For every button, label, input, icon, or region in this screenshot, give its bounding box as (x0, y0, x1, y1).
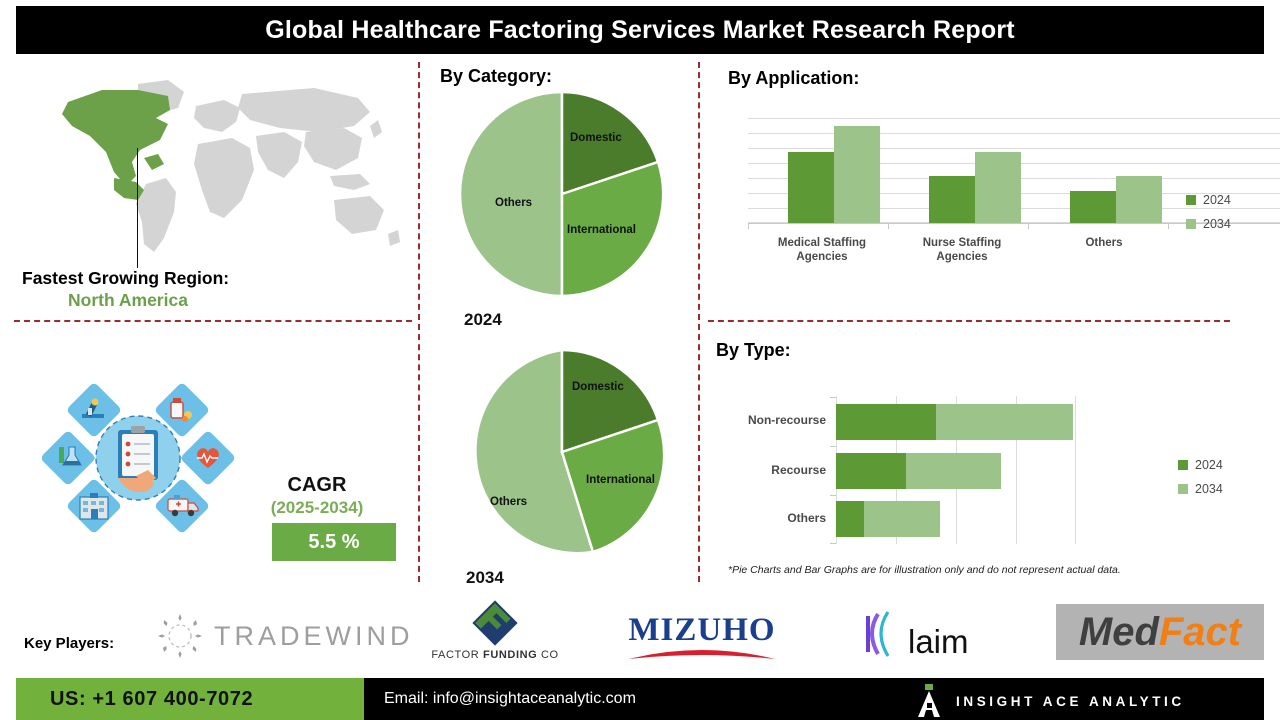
application-category-others: Others (1038, 236, 1170, 250)
application-tick-2 (1028, 223, 1029, 229)
footer-brand-text: INSIGHT ACE ANALYTIC (956, 694, 1185, 709)
mizuho-logo: MIZUHO (622, 612, 782, 663)
key-players-label: Key Players: (24, 635, 114, 652)
bar-2034-others-application (1116, 176, 1162, 223)
application-legend: 2024 2034 (1186, 193, 1231, 241)
factor-funding-word-funding: FUNDING (483, 649, 537, 661)
world-map (18, 66, 408, 266)
legend-item-2024: 2024 (1186, 193, 1231, 207)
factor-funding-diamond-icon (469, 600, 521, 646)
legend-label-2034: 2034 (1203, 217, 1231, 231)
hbar-2034-others-type (864, 501, 940, 537)
fastest-growing-region-value: North America (68, 290, 188, 311)
healthcare-icon-cluster (38, 358, 238, 558)
cagr-label: CAGR (226, 474, 408, 497)
type-tick-3 (830, 543, 836, 544)
mizuho-wordmark: MIZUHO (622, 612, 782, 649)
type-legend-label-2034: 2034 (1195, 482, 1223, 496)
tradewind-starburst-icon (152, 612, 208, 660)
cagr-years: (2025-2034) (226, 498, 408, 518)
footer-brand: INSIGHT ACE ANALYTIC (916, 684, 1185, 718)
pie-2034-slice-label-others: Others (490, 496, 527, 508)
footer-email: Email: info@insightaceanalytic.com (364, 690, 636, 708)
factor-funding-co-logo: FACTOR FUNDING CO (415, 600, 575, 661)
map-pointer-line (137, 148, 138, 268)
pie-2024-slice-label-domestic: Domestic (570, 132, 622, 144)
pie-2034-slice-label-international: International (586, 474, 655, 486)
hbar-2034-recourse (906, 453, 1001, 489)
legend-swatch-2024 (1186, 195, 1196, 205)
application-tick-1 (888, 223, 889, 229)
factor-funding-word-factor: FACTOR (431, 649, 479, 661)
pie-2034-slice-label-domestic: Domestic (572, 381, 624, 393)
pie-chart-2034 (452, 342, 672, 562)
tradewind-logo: TRADEWIND (152, 612, 414, 660)
horizontal-divider-left (14, 320, 412, 322)
type-legend-swatch-2024 (1178, 460, 1188, 470)
application-category-medical-staffing: Medical StaffingAgencies (756, 236, 888, 264)
cagr-value: 5.5 % (308, 531, 359, 554)
pie-2024-slice-label-others: Others (495, 197, 532, 209)
type-category-non-recourse: Non-recourse (700, 413, 826, 427)
insight-ace-a-logo-icon (916, 684, 942, 718)
type-category-others: Others (700, 511, 826, 525)
type-gridline-4 (1075, 396, 1076, 544)
type-bar-chart (836, 396, 1076, 544)
legend-swatch-2034 (1186, 219, 1196, 229)
pie-chart-2024 (452, 84, 672, 304)
pie-2034-year: 2034 (466, 568, 504, 588)
by-type-title: By Type: (716, 340, 791, 361)
page-title: Global Healthcare Factoring Services Mar… (265, 16, 1015, 45)
type-legend-item-2024: 2024 (1178, 458, 1223, 472)
factor-funding-word-co: CO (541, 649, 559, 661)
legend-item-2034: 2034 (1186, 217, 1231, 231)
hbar-2024-non-recourse (836, 404, 936, 440)
type-legend-item-2034: 2034 (1178, 482, 1223, 496)
bar-2024-others-application (1070, 191, 1116, 223)
pie-2024-slice-label-international: International (567, 224, 636, 236)
hbar-2024-others-type (836, 501, 864, 537)
footer-phone-block: US: +1 607 400-7072 (16, 678, 364, 720)
cagr-value-box: 5.5 % (272, 523, 396, 561)
pie-2024-year: 2024 (464, 310, 502, 330)
type-tick-1 (830, 446, 836, 447)
infographic-canvas: Global Healthcare Factoring Services Mar… (0, 0, 1280, 720)
type-tick-0 (830, 397, 836, 398)
bar-2034-nurse-staffing (975, 152, 1021, 223)
fastest-growing-region-label: Fastest Growing Region: (22, 268, 229, 289)
type-category-recourse: Recourse (700, 463, 826, 477)
klaim-logo: laim (862, 608, 969, 658)
legend-label-2024: 2024 (1203, 193, 1231, 207)
vertical-divider-right (698, 62, 700, 582)
type-legend-label-2024: 2024 (1195, 458, 1223, 472)
footer-phone: US: +1 607 400-7072 (16, 688, 253, 711)
horizontal-divider-right (708, 320, 1230, 322)
bar-2024-nurse-staffing (929, 176, 975, 223)
bar-2024-medical-staffing (788, 152, 834, 223)
klaim-bracket-icon (862, 608, 910, 658)
hbar-2034-non-recourse (936, 404, 1073, 440)
vertical-divider-left (418, 62, 420, 582)
application-tick-3 (1168, 223, 1169, 229)
medfact-word-med: Med (1079, 610, 1159, 655)
klaim-wordmark: laim (908, 625, 969, 658)
chart-disclaimer-note: *Pie Charts and Bar Graphs are for illus… (728, 564, 1121, 576)
type-legend-swatch-2034 (1178, 484, 1188, 494)
tradewind-wordmark: TRADEWIND (214, 621, 414, 652)
header-bar: Global Healthcare Factoring Services Mar… (16, 6, 1264, 54)
application-tick-0 (748, 223, 749, 229)
by-application-title: By Application: (728, 68, 859, 89)
hbar-2024-recourse (836, 453, 906, 489)
application-category-nurse-staffing: Nurse StaffingAgencies (896, 236, 1028, 264)
medfact-logo: Med Fact (1056, 604, 1264, 660)
type-legend: 2024 2034 (1178, 458, 1223, 506)
medfact-word-fact: Fact (1159, 610, 1241, 655)
bar-2034-medical-staffing (834, 126, 880, 223)
type-tick-2 (830, 495, 836, 496)
mizuho-swoosh-icon (627, 647, 777, 663)
